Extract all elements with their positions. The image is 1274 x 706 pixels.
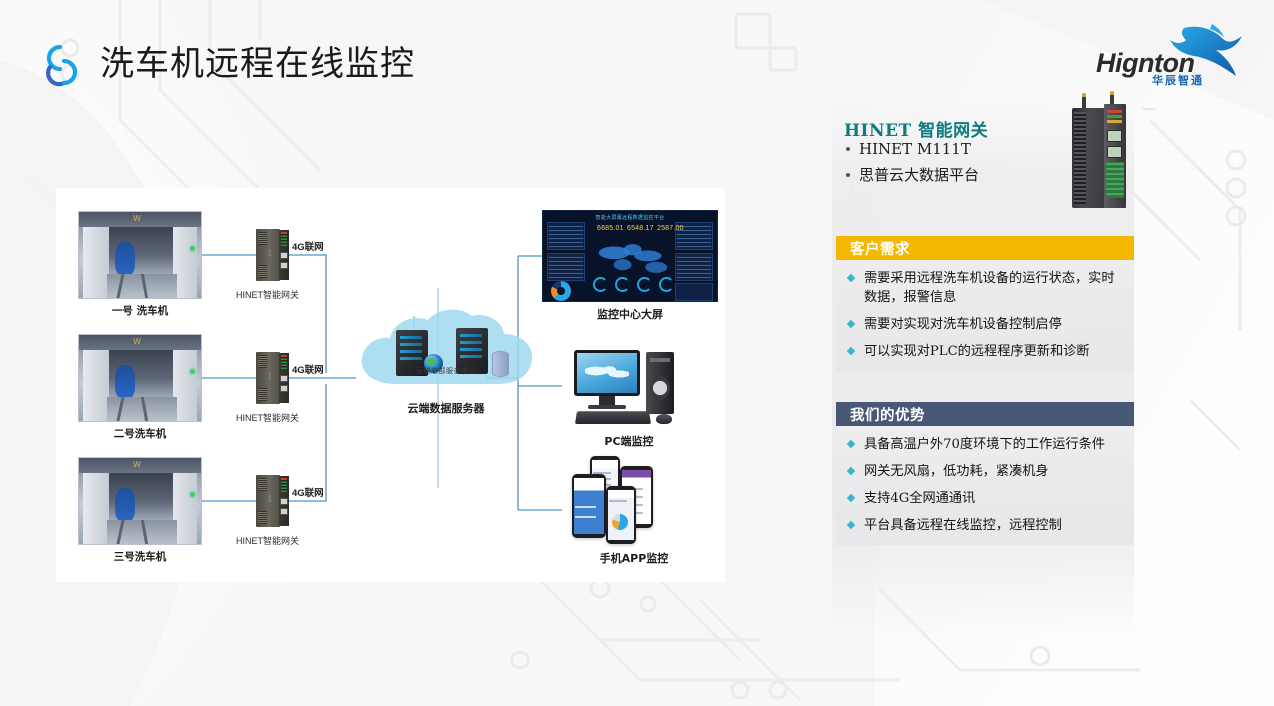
list-item: 需要对实现对洗车机设备控制启停 [848,315,1122,334]
keyboard-icon [575,411,651,424]
phone-icon-4 [606,486,636,544]
gateway-caption-2: HINET智能网关 [236,411,299,424]
list-item: 具备高温户外70度环境下的工作运行条件 [848,435,1122,454]
washer-caption-2: 二号洗车机 [78,426,202,441]
link-tag-1: 4G联网 [292,239,324,253]
washer-caption-3: 三号洗车机 [78,549,202,564]
our-advantages-heading: 我们的优势 [836,402,1134,426]
client-caption-pc: PC端监控 [564,433,694,449]
gateway-caption-3: HINET智能网关 [236,534,299,547]
dashboard-world-map [589,233,673,277]
diamond-bullet-icon [847,440,855,448]
database-cylinder-icon [492,351,509,377]
slide-root: 洗车机远程在线监控 Hignton 华辰智通 [0,0,1274,706]
diamond-bullet-icon [847,521,855,529]
hinet-gateway-photo: Hignton [1070,94,1128,212]
logo-chinese-name: 华辰智通 [1152,72,1204,88]
dashboard-screen-title: 智能大屏幕远程数据监控平台 [596,214,665,221]
client-caption-mobile: 手机APP监控 [564,550,704,566]
gateway-hero-item-1: HINET M111T [846,140,971,158]
list-item: 可以实现对PLC的远程程序更新和诊断 [848,342,1122,361]
client-caption-big-screen: 监控中心大屏 [542,306,718,322]
gateway-hero-block: HINET 智能网关 HINET M111T 思普云大数据平台 Hignton [836,96,1136,214]
gateway-device-3: 1 [256,475,289,527]
double-circle-logo-icon [38,41,86,89]
company-logo: Hignton 华辰智通 [1094,24,1244,92]
bullet-dot-icon [846,147,850,151]
mouse-icon [656,414,672,424]
gateway-hero-item-2: 思普云大数据平台 [846,164,979,185]
list-item: 网关无风扇，低功耗，紧凑机身 [848,462,1122,481]
cloud-server-group: 云端总部服务中心 [352,306,540,398]
gateway-caption-1: HINET智能网关 [236,288,299,301]
list-item: 支持4G全网通通讯 [848,489,1122,508]
dashboard-donut-chart [551,281,571,301]
diamond-bullet-icon [847,320,855,328]
diamond-bullet-icon [847,494,855,502]
phone-icon-3 [572,474,606,538]
pc-tower-icon [646,352,674,414]
cloud-shape-icon [352,306,540,398]
link-tag-3: 4G联网 [292,485,324,499]
slide-header: 洗车机远程在线监控 Hignton 华辰智通 [0,0,1274,105]
washer-photo-1: W [78,211,202,299]
list-item: 平台具备远程在线监控，远程控制 [848,516,1122,535]
link-tag-2: 4G联网 [292,362,324,376]
gateway-device-1: 1 [256,229,289,281]
customer-needs-heading: 客户需求 [836,236,1134,260]
washer-photo-3: W [78,457,202,545]
gateway-hero-title: HINET 智能网关 [844,116,988,141]
diamond-bullet-icon [847,274,855,282]
our-advantages-card: 我们的优势 具备高温户外70度环境下的工作运行条件 网关无风扇，低功耗，紧凑机身… [836,402,1134,545]
mobile-app-graphic [568,456,698,546]
pc-monitor-icon [574,350,640,396]
washer-photo-2: W [78,334,202,422]
list-item: 需要采用远程洗车机设备的运行状态，实时数据，报警信息 [848,269,1122,307]
gateway-device-2: 1 [256,352,289,404]
customer-needs-card: 客户需求 需要采用远程洗车机设备的运行状态，实时数据，报警信息 需要对实现对洗车… [836,236,1134,371]
washer-caption-1: 一号 洗车机 [78,303,202,318]
diamond-bullet-icon [847,347,855,355]
our-advantages-body: 具备高温户外70度环境下的工作运行条件 网关无风扇，低功耗，紧凑机身 支持4G全… [836,426,1134,545]
cloud-caption: 云端数据服务器 [376,400,516,416]
monitoring-dashboard-screen: 智能大屏幕远程数据监控平台 6685.01 6548.17 2587.00 [542,210,718,302]
diamond-bullet-icon [847,467,855,475]
architecture-diagram-panel: W 一号 洗车机 1 HINET智能网关 4G联网 W 二号洗车机 1 HINE… [56,188,725,582]
cloud-inner-caption: 云端总部服务中心 [416,366,476,376]
bullet-dot-icon [846,173,850,177]
customer-needs-body: 需要采用远程洗车机设备的运行状态，实时数据，报警信息 需要对实现对洗车机设备控制… [836,260,1134,371]
pc-workstation-graphic [574,350,684,430]
page-title: 洗车机远程在线监控 [100,40,415,88]
